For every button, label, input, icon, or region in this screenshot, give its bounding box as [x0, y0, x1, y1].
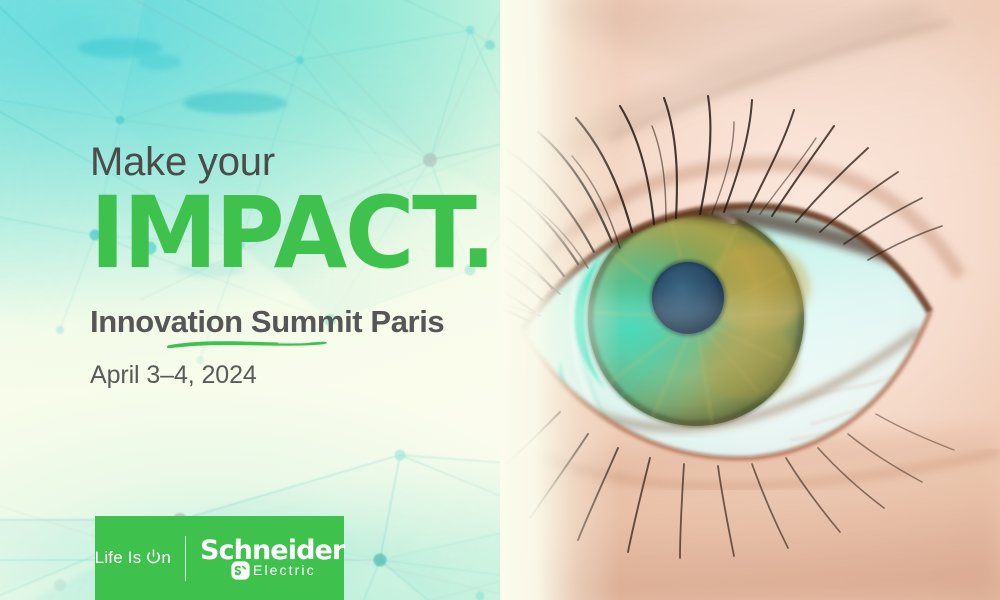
- electric-row: Electric: [231, 561, 344, 580]
- eye-photograph: [500, 0, 1000, 600]
- event-dates: April 3–4, 2024: [90, 361, 511, 390]
- event-name: Innovation Summit Paris: [90, 305, 511, 339]
- brand-name: Schneider: [200, 537, 344, 564]
- schneider-electric-logo[interactable]: Life Is n Schneider Electric: [95, 516, 344, 600]
- power-on-icon: [146, 549, 161, 564]
- headline-main: IMPACT.: [90, 188, 494, 279]
- logo-divider: [185, 536, 186, 581]
- headline-block: Make your IMPACT. Innovation Summit Pari…: [90, 142, 511, 390]
- life-is-on-tagline: Life Is n: [95, 548, 171, 568]
- schneider-s-mark-icon: [231, 561, 250, 580]
- promotional-banner: Make your IMPACT. Innovation Summit Pari…: [0, 0, 1000, 600]
- schneider-wordmark: Schneider Electric: [200, 537, 344, 580]
- brand-sub: Electric: [253, 563, 316, 577]
- event-name-block: Innovation Summit Paris: [90, 305, 511, 339]
- tagline-text: Life Is n: [95, 548, 171, 568]
- brush-underline-icon: [166, 338, 328, 350]
